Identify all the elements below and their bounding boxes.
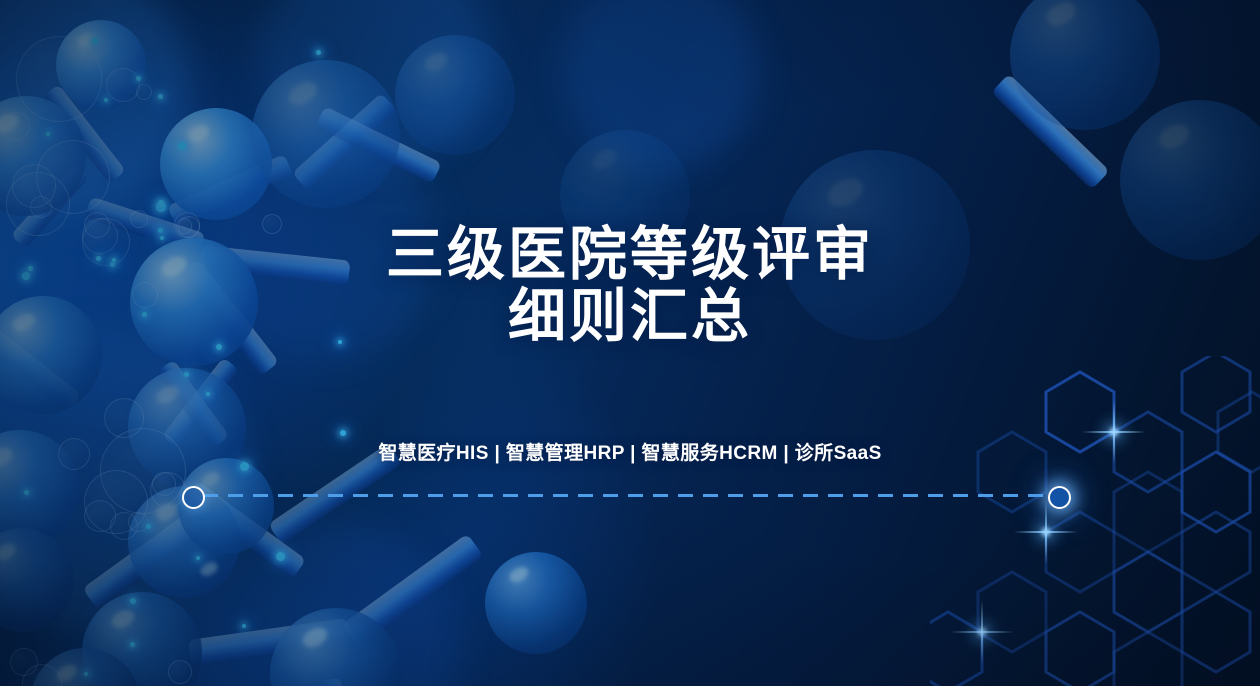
slide-canvas: 三级医院等级评审 细则汇总 智慧医疗HIS | 智慧管理HRP | 智慧服务HC… xyxy=(0,0,1260,686)
subtitle-text: 智慧医疗HIS | 智慧管理HRP | 智慧服务HCRM | 诊所SaaS xyxy=(0,438,1260,465)
divider-endpoint-right-icon xyxy=(1048,486,1071,509)
dashed-line xyxy=(203,494,1049,497)
divider xyxy=(191,495,1061,496)
page-title: 三级医院等级评审 细则汇总 xyxy=(0,224,1260,348)
divider-endpoint-left-icon xyxy=(182,486,205,509)
